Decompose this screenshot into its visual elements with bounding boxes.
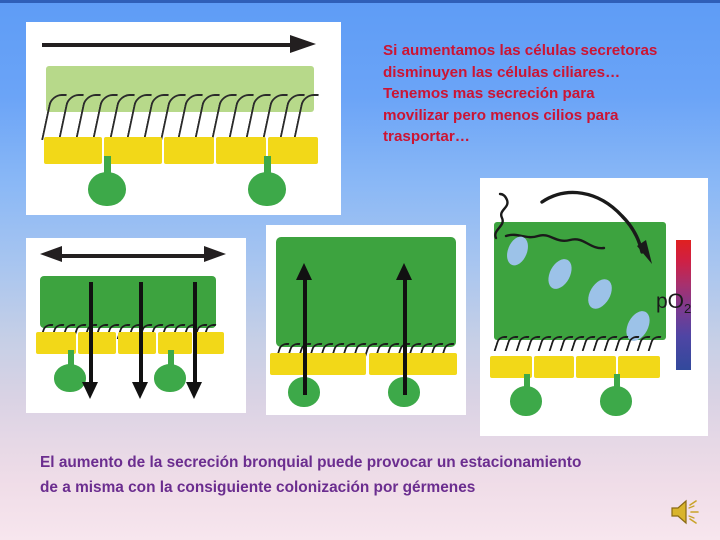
- epithelial-cell-row: [44, 137, 318, 164]
- cilia-band: [46, 94, 316, 140]
- caption-line: de a misma con la consiguiente colonizac…: [40, 475, 690, 500]
- secretion-arrow-up-icon: [402, 263, 408, 395]
- panel-bacterial-colonization: pO2: [480, 178, 708, 436]
- callout-line: Si aumentamos las células secretoras: [383, 40, 695, 62]
- callout-line: trasportar…: [383, 126, 695, 148]
- bidirectional-arrow-icon: [40, 250, 226, 262]
- callout-line: disminuyen las células ciliares…: [383, 62, 695, 84]
- short-cilia-row: [494, 336, 666, 350]
- stasis-arrow-down-icon: [138, 282, 144, 400]
- slide-canvas: pO2 Si aumentamos las células secretoras…: [0, 0, 720, 540]
- speaker-icon[interactable]: [668, 497, 704, 527]
- secretion-arrow-up-icon: [302, 263, 308, 395]
- callout-red-text: Si aumentamos las células secretoras dis…: [383, 40, 695, 148]
- epithelial-cell-row: [270, 353, 460, 375]
- caption-line: El aumento de la secreción bronquial pue…: [40, 450, 690, 475]
- panel-normal-airway: [26, 22, 341, 215]
- slide-top-border: [0, 0, 720, 3]
- epithelial-cell-row: [36, 332, 218, 354]
- panel-thick-mucus-middle: [266, 225, 466, 415]
- po2-legend-label: pO2: [656, 290, 691, 316]
- stasis-arrow-down-icon: [192, 282, 198, 400]
- caption-purple-text: El aumento de la secreción bronquial pue…: [40, 450, 690, 500]
- stasis-arrow-down-icon: [88, 282, 94, 400]
- mucus-flow-arrow-right-icon: [42, 40, 324, 49]
- epithelial-cell-row: [490, 356, 670, 378]
- callout-line: movilizar pero menos cilios para: [383, 105, 695, 127]
- mucus-layer-thick: [40, 276, 216, 328]
- panel-thick-mucus-left: [26, 238, 246, 413]
- callout-line: Tenemos mas secreción para: [383, 83, 695, 105]
